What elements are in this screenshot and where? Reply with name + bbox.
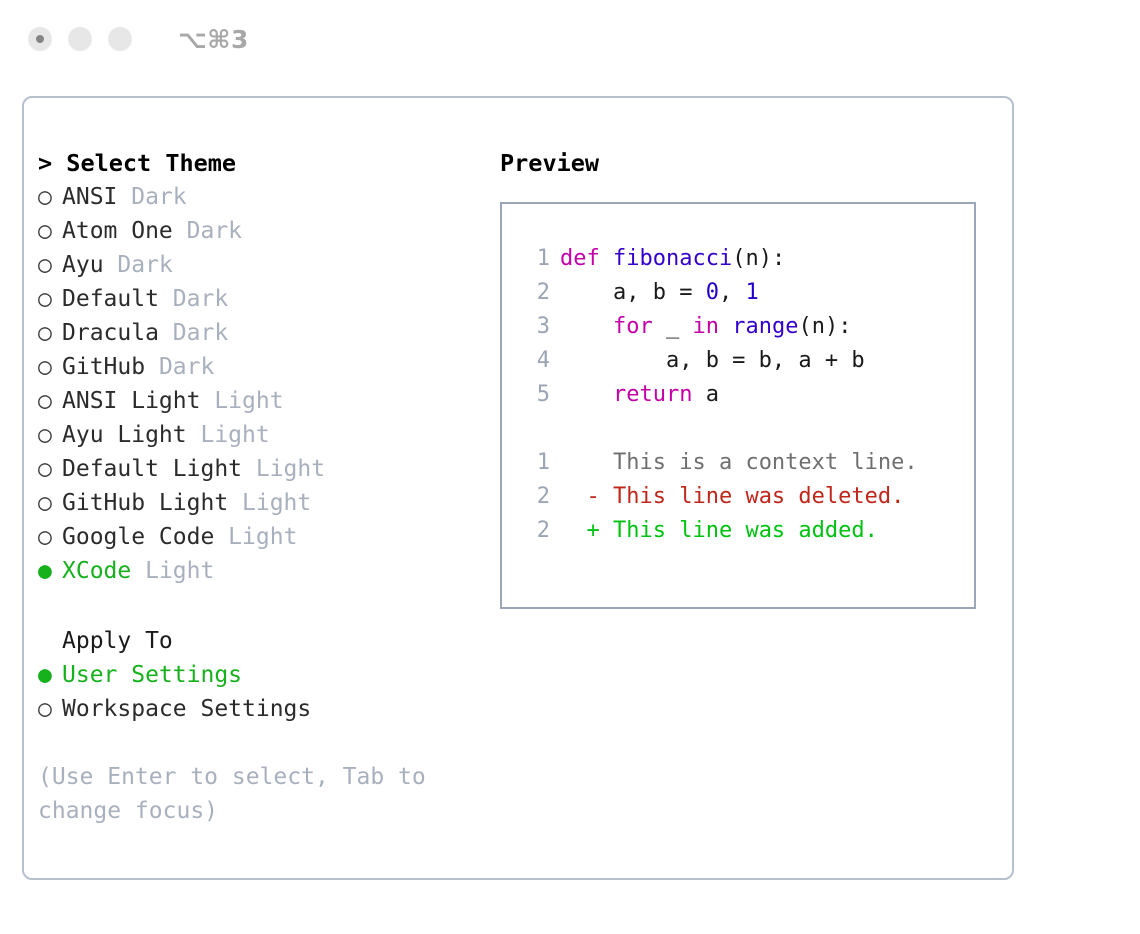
theme-list-item-tag: Light — [187, 422, 270, 448]
code-token-kw: for — [613, 314, 653, 339]
code-line: 4 a, b = b, a + b — [520, 344, 974, 378]
radio-unselected-icon[interactable]: ○ — [38, 486, 62, 520]
theme-list-item[interactable]: ○ANSI Dark — [38, 180, 498, 214]
theme-list-item[interactable]: ○GitHub Light Light — [38, 486, 498, 520]
theme-list-item[interactable]: ○ANSI Light Light — [38, 384, 498, 418]
theme-list-item-label: Google Code — [62, 524, 214, 550]
diff-line: 2 + This line was added. — [520, 514, 974, 548]
theme-list-item[interactable]: ○Dracula Dark — [38, 316, 498, 350]
main-window-panel: > Select Theme ○ANSI Dark○Atom One Dark○… — [22, 96, 1014, 880]
apply-to-option-label: User Settings — [62, 662, 242, 688]
code-token-plain: a — [692, 382, 719, 407]
theme-list-item-label: GitHub Light — [62, 490, 228, 516]
apply-to-option[interactable]: ●User Settings — [38, 658, 498, 692]
code-line-number: 2 — [520, 276, 550, 310]
code-token-kw: return — [613, 382, 692, 407]
code-line: 3 for _ in range(n): — [520, 310, 974, 344]
code-line: 2 a, b = 0, 1 — [520, 276, 974, 310]
diff-line-text: This line was added. — [600, 518, 878, 543]
diff-line-number: 2 — [520, 480, 550, 514]
theme-list-item-tag: Dark — [173, 218, 242, 244]
theme-list-item-tag: Dark — [145, 354, 214, 380]
diff-marker-add: + — [560, 518, 600, 543]
diff-line-number: 1 — [520, 446, 550, 480]
radio-unselected-icon[interactable]: ○ — [38, 384, 62, 418]
code-token-plain — [560, 382, 613, 407]
theme-list-item[interactable]: ○Ayu Dark — [38, 248, 498, 282]
theme-list-item-label: Default — [62, 286, 159, 312]
theme-list-item-label: Dracula — [62, 320, 159, 346]
diff-sample-block: 1 This is a context line.2 - This line w… — [520, 446, 974, 548]
theme-list-item-tag: Dark — [159, 320, 228, 346]
radio-unselected-icon[interactable]: ○ — [38, 520, 62, 554]
theme-list-item[interactable]: ○Ayu Light Light — [38, 418, 498, 452]
radio-unselected-icon[interactable]: ○ — [38, 418, 62, 452]
radio-unselected-icon[interactable]: ○ — [38, 350, 62, 384]
keyboard-shortcut-label: ⌥⌘3 — [178, 25, 249, 54]
apply-to-option[interactable]: ○Workspace Settings — [38, 692, 498, 726]
theme-list-item-tag: Light — [214, 524, 297, 550]
code-diff-gap — [520, 412, 974, 446]
radio-unselected-icon[interactable]: ○ — [38, 282, 62, 316]
preview-panel: Preview 1def fibonacci(n):2 a, b = 0, 13… — [500, 146, 1000, 609]
theme-list-item[interactable]: ○GitHub Dark — [38, 350, 498, 384]
radio-unselected-icon[interactable]: ○ — [38, 692, 62, 726]
section-spacer — [38, 588, 498, 624]
window-dot-active[interactable] — [28, 27, 52, 51]
code-line-number: 1 — [520, 242, 550, 276]
theme-list-item[interactable]: ○Atom One Dark — [38, 214, 498, 248]
code-token-plain: (n): — [798, 314, 851, 339]
diff-line-text: This is a context line. — [600, 450, 918, 475]
code-line: 1def fibonacci(n): — [520, 242, 974, 276]
diff-marker-ctx — [560, 450, 600, 475]
theme-list-item-tag: Light — [242, 456, 325, 482]
theme-list-item-tag: Light — [200, 388, 283, 414]
code-token-plain: (n): — [732, 246, 785, 271]
theme-list-item-label: ANSI — [62, 184, 117, 210]
keyboard-hint-text: (Use Enter to select, Tab to change focu… — [38, 760, 438, 828]
window-titlebar: ⌥⌘3 — [0, 0, 1140, 78]
preview-box: 1def fibonacci(n):2 a, b = 0, 13 for _ i… — [500, 202, 976, 609]
theme-list-item-tag: Dark — [117, 184, 186, 210]
diff-line: 1 This is a context line. — [520, 446, 974, 480]
theme-list-item-label: ANSI Light — [62, 388, 200, 414]
apply-to-heading-label: Apply To — [62, 628, 173, 654]
radio-unselected-icon[interactable]: ○ — [38, 452, 62, 486]
radio-unselected-icon[interactable]: ○ — [38, 180, 62, 214]
preview-title: Preview — [500, 146, 1000, 180]
apply-to-list: ●User Settings○Workspace Settings — [38, 658, 498, 726]
two-column-layout: > Select Theme ○ANSI Dark○Atom One Dark○… — [24, 98, 1012, 878]
theme-list-item-label: Atom One — [62, 218, 173, 244]
code-token-num: 0 — [706, 280, 719, 305]
theme-list-item-tag: Light — [228, 490, 311, 516]
code-token-fn: fibonacci — [613, 246, 732, 271]
theme-list-item-tag: Light — [131, 558, 214, 584]
code-token-num: 1 — [745, 280, 758, 305]
heading-prompt-prefix: > — [38, 149, 66, 177]
code-token-plain: , — [719, 280, 746, 305]
theme-list-item-label: XCode — [62, 558, 131, 584]
code-line-number: 5 — [520, 378, 550, 412]
code-token-fn: range — [732, 314, 798, 339]
diff-line-number: 2 — [520, 514, 550, 548]
theme-list-item-label: GitHub — [62, 354, 145, 380]
window-dot-third[interactable] — [108, 27, 132, 51]
theme-list-item-tag: Dark — [104, 252, 173, 278]
theme-list-item-label: Default Light — [62, 456, 242, 482]
radio-unselected-icon[interactable]: ○ — [38, 316, 62, 350]
diff-line-text: This line was deleted. — [600, 484, 905, 509]
radio-unselected-icon[interactable]: ○ — [38, 214, 62, 248]
apply-to-heading: Apply To — [38, 624, 498, 658]
theme-list-item[interactable]: ●XCode Light — [38, 554, 498, 588]
code-token-kw: in — [692, 314, 719, 339]
code-line: 5 return a — [520, 378, 974, 412]
code-line-number: 3 — [520, 310, 550, 344]
diff-line: 2 - This line was deleted. — [520, 480, 974, 514]
code-token-plain: a, b = — [560, 280, 706, 305]
theme-list-item[interactable]: ○Default Dark — [38, 282, 498, 316]
code-token-plain — [560, 314, 613, 339]
apply-to-option-label: Workspace Settings — [62, 696, 311, 722]
select-theme-heading-label: Select Theme — [66, 149, 236, 177]
code-token-kw: def — [560, 246, 613, 271]
code-line-number: 4 — [520, 344, 550, 378]
theme-list-item[interactable]: ○Google Code Light — [38, 520, 498, 554]
theme-selector-panel: > Select Theme ○ANSI Dark○Atom One Dark○… — [38, 146, 498, 828]
code-token-plain — [719, 314, 732, 339]
select-theme-heading: > Select Theme — [38, 146, 498, 180]
theme-list-item-tag: Dark — [159, 286, 228, 312]
window-dot-second[interactable] — [68, 27, 92, 51]
radio-unselected-icon[interactable]: ○ — [38, 248, 62, 282]
code-token-plain: _ — [653, 314, 693, 339]
diff-marker-del: - — [560, 484, 600, 509]
window-dot-active-inner — [36, 35, 44, 43]
code-token-plain: a, b = b, a + b — [560, 348, 865, 373]
theme-list-item[interactable]: ○Default Light Light — [38, 452, 498, 486]
radio-selected-icon[interactable]: ● — [38, 658, 62, 692]
theme-list-item-label: Ayu — [62, 252, 104, 278]
theme-list-item-label: Ayu Light — [62, 422, 187, 448]
theme-list: ○ANSI Dark○Atom One Dark○Ayu Dark○Defaul… — [38, 180, 498, 588]
code-sample-block: 1def fibonacci(n):2 a, b = 0, 13 for _ i… — [520, 242, 974, 412]
apply-to-heading-indent — [38, 624, 62, 658]
app-screen: ⌥⌘3 > Select Theme ○ANSI Dark○Atom One D… — [0, 0, 1140, 934]
radio-selected-icon[interactable]: ● — [38, 554, 62, 588]
